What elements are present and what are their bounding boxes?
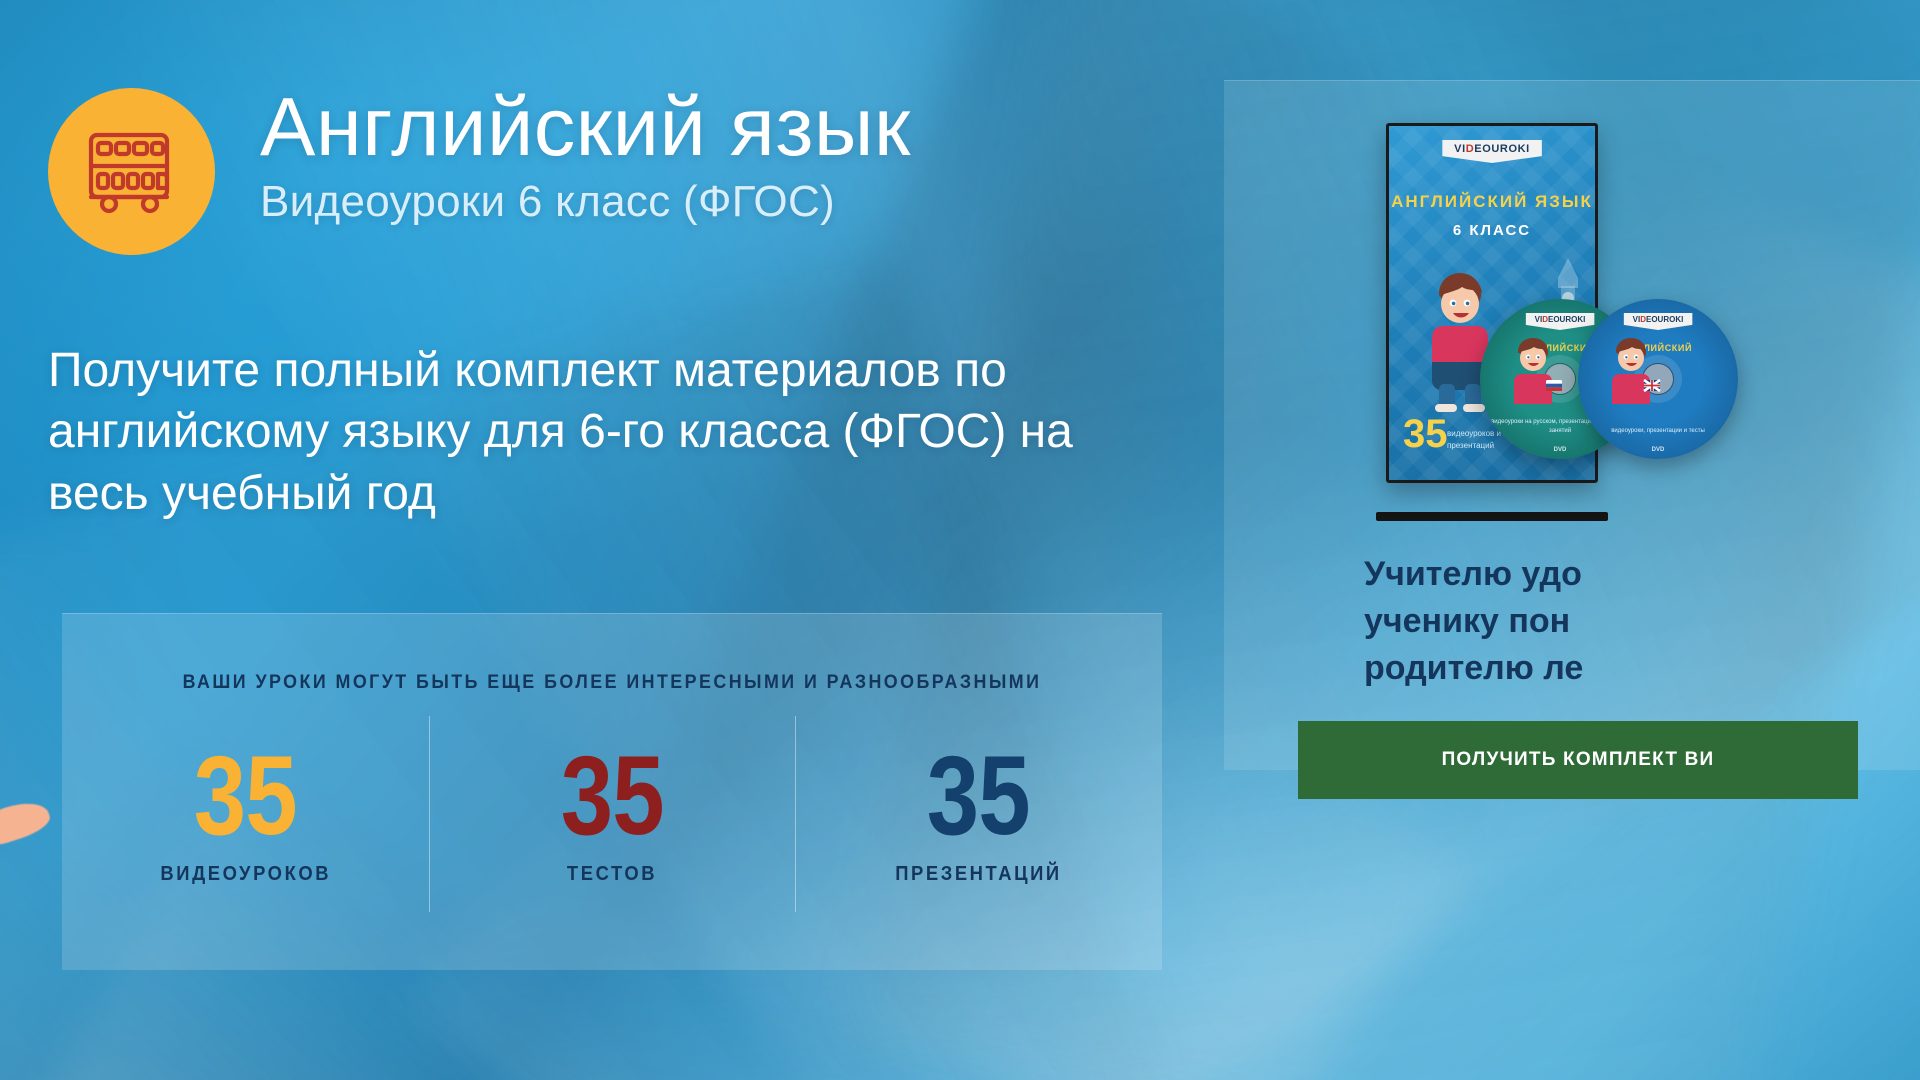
banner-stand-base <box>1376 512 1608 521</box>
hero-title-block: Английский язык Видеоуроки 6 класс (ФГОС… <box>260 82 911 226</box>
stat-label: ПРЕЗЕНТАЦИЙ <box>895 863 1061 886</box>
dvd-label: DVD <box>1554 447 1567 453</box>
stat-value: 35 <box>194 744 297 847</box>
double-decker-bus-icon <box>84 129 180 215</box>
stats-heading: ВАШИ УРОКИ МОГУТ БЫТЬ ЕЩЕ БОЛЕЕ ИНТЕРЕСН… <box>95 672 1129 694</box>
disc-note: видеоуроки, презентации и тесты <box>1578 427 1738 437</box>
product-image: VIDEOUROKI АНГЛИЙСКИЙ ЯЗЫК 6 КЛАСС <box>1330 113 1790 513</box>
box-title: АНГЛИЙСКИЙ ЯЗЫК <box>1389 192 1595 212</box>
stat-label: ВИДЕОУРОКОВ <box>160 863 331 886</box>
dvd-disc-right: VIDEOUROKI АНГЛИЙСКИЙ видеоуроки, презен… <box>1578 299 1738 459</box>
product-panel: VIDEOUROKI АНГЛИЙСКИЙ ЯЗЫК 6 КЛАСС <box>1224 80 1920 770</box>
dvd-label: DVD <box>1652 447 1665 453</box>
hero-title-row: Английский язык Видеоуроки 6 класс (ФГОС… <box>48 82 911 255</box>
cartoon-boy-icon <box>1604 336 1662 415</box>
videouroki-logo: VIDEOUROKI <box>1624 313 1693 330</box>
box-grade: 6 КЛАСС <box>1389 222 1595 239</box>
videouroki-logo: VIDEOUROKI <box>1526 313 1595 330</box>
union-jack-flag-icon <box>1644 380 1660 391</box>
product-headline-line: Учителю удо <box>1364 551 1920 598</box>
page-title: Английский язык <box>260 86 911 167</box>
cartoon-boy-icon <box>1506 336 1564 415</box>
box-count: 35 <box>1403 414 1448 454</box>
stats-panel: ВАШИ УРОКИ МОГУТ БЫТЬ ЕЩЕ БОЛЕЕ ИНТЕРЕСН… <box>62 613 1162 970</box>
stat-item-videolessons: 35 ВИДЕОУРОКОВ <box>62 732 429 932</box>
get-kit-button[interactable]: ПОЛУЧИТЬ КОМПЛЕКТ ВИ <box>1298 721 1858 799</box>
subject-badge <box>48 88 215 255</box>
stat-label: ТЕСТОВ <box>567 863 657 886</box>
stat-item-tests: 35 ТЕСТОВ <box>429 732 796 932</box>
stat-value: 35 <box>927 744 1030 847</box>
hero-left-column: Английский язык Видеоуроки 6 класс (ФГОС… <box>0 0 1230 1080</box>
cartoon-hand-decoration <box>0 795 53 850</box>
stats-row: 35 ВИДЕОУРОКОВ 35 ТЕСТОВ 35 ПРЕЗЕНТАЦИЙ <box>62 732 1162 932</box>
hero-lead-text: Получите полный комплект материалов по а… <box>48 340 1168 524</box>
product-headline-line: ученику пон <box>1364 598 1920 645</box>
videouroki-logo: VIDEOUROKI <box>1442 140 1542 163</box>
product-headline-line: родителю ле <box>1364 645 1920 692</box>
stat-value: 35 <box>561 744 664 847</box>
page-subtitle: Видеоуроки 6 класс (ФГОС) <box>260 179 911 225</box>
page-stage: Английский язык Видеоуроки 6 класс (ФГОС… <box>0 0 1920 1080</box>
stat-item-presentations: 35 ПРЕЗЕНТАЦИЙ <box>795 732 1162 932</box>
product-headline: Учителю удо ученику пон родителю ле <box>1364 551 1920 692</box>
